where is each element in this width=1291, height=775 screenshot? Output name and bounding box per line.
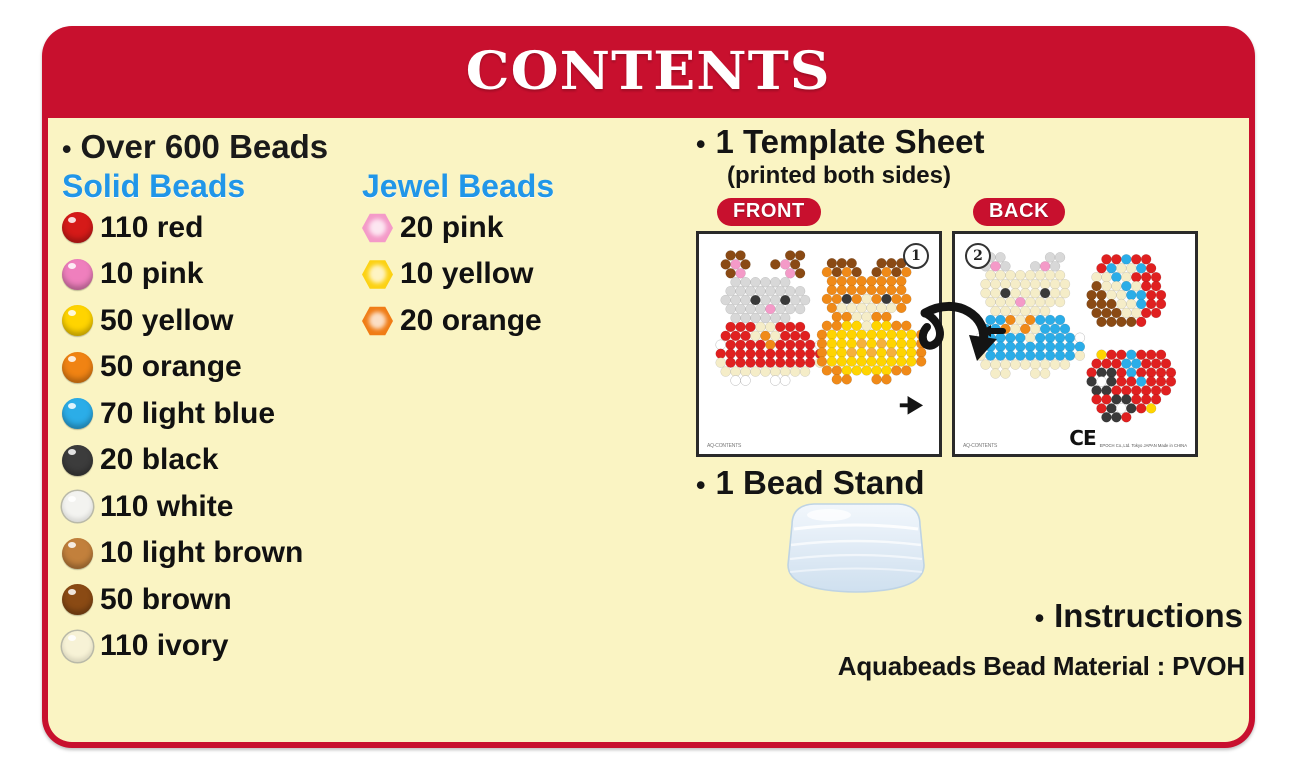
bead-stand-heading: • 1 Bead Stand (696, 465, 1241, 501)
jewel-beads-title: Jewel Beads (362, 168, 662, 205)
bead-count-label: 110 white (100, 484, 233, 531)
template-sheet-label: 1 Template Sheet (715, 124, 984, 160)
solid-bead-icon (62, 491, 93, 522)
list-item: 10 pink (62, 251, 362, 298)
instructions-heading: • Instructions (1035, 597, 1243, 635)
beads-column: • Over 600 Beads Solid Beads 110 red10 p… (62, 128, 682, 670)
solid-beads-title: Solid Beads (62, 168, 362, 205)
solid-beads-column: Solid Beads 110 red10 pink50 yellow50 or… (62, 168, 362, 670)
contents-panel: • Over 600 Beads Solid Beads 110 red10 p… (48, 118, 1249, 742)
back-bead-pattern-icon (955, 234, 1195, 454)
list-item: 10 light brown (62, 530, 362, 577)
sheet-back-fineprint: AQ-CONTENTS (963, 443, 997, 449)
solid-bead-icon (62, 584, 93, 615)
bead-columns: Solid Beads 110 red10 pink50 yellow50 or… (62, 168, 682, 670)
bead-count-label: 20 orange (400, 298, 542, 345)
status-badge-back: BACK (973, 198, 1065, 226)
bead-count-label: 50 orange (100, 344, 242, 391)
bead-count-label: 20 black (100, 437, 218, 484)
list-item: 110 white (62, 484, 362, 531)
list-item: 110 red (62, 205, 362, 252)
sheet-side-badges: FRONT BACK (696, 198, 1241, 226)
bead-count-label: 10 yellow (400, 251, 533, 298)
bead-count-label: 50 yellow (100, 298, 233, 345)
template-column: • 1 Template Sheet (printed both sides) … (696, 124, 1241, 502)
jewel-bead-icon (362, 259, 393, 290)
template-sheet-back: 2 AQ-CONTENTS CE EPOCH Co.,Ltd. Tokyo JA… (952, 231, 1198, 457)
bead-stand-icon (774, 499, 938, 597)
list-item: 50 orange (62, 344, 362, 391)
solid-bead-icon (62, 352, 93, 383)
solid-beads-list: 110 red10 pink50 yellow50 orange70 light… (62, 205, 362, 670)
solid-bead-icon (62, 305, 93, 336)
ce-address-text: EPOCH Co.,Ltd. Tokyo JAPAN Made in CHINA (1100, 443, 1187, 448)
solid-bead-icon (62, 212, 93, 243)
solid-bead-icon (62, 631, 93, 662)
jewel-beads-list: 20 pink10 yellow20 orange (362, 205, 662, 345)
solid-bead-icon (62, 259, 93, 290)
card-header: CONTENTS (42, 26, 1255, 118)
bead-count-label: 110 ivory (100, 623, 228, 670)
jewel-beads-column: Jewel Beads 20 pink10 yellow20 orange (362, 168, 662, 670)
list-item: 50 yellow (62, 298, 362, 345)
front-bead-pattern-icon (699, 234, 939, 454)
list-item: 70 light blue (62, 391, 362, 438)
template-sheet-front: 1 AQ-CONTENTS (696, 231, 942, 457)
bead-stand-section: • 1 Bead Stand (696, 465, 1241, 501)
bead-count-label: 20 pink (400, 205, 503, 252)
ce-mark-group: CE EPOCH Co.,Ltd. Tokyo JAPAN Made in CH… (1069, 428, 1187, 448)
instructions-label: Instructions (1054, 597, 1243, 635)
jewel-bead-icon (362, 212, 393, 243)
over-600-beads-label: Over 600 Beads (80, 128, 328, 166)
list-item: 20 orange (362, 298, 662, 345)
solid-bead-icon (62, 538, 93, 569)
bead-count-label: 10 light brown (100, 530, 303, 577)
bullet-icon: • (696, 472, 705, 499)
over-600-beads-heading: • Over 600 Beads (62, 128, 682, 166)
template-sheet-subtitle: (printed both sides) (727, 162, 1241, 190)
jewel-bead-icon (362, 305, 393, 336)
bead-count-label: 70 light blue (100, 391, 275, 438)
sheet-front-fineprint: AQ-CONTENTS (707, 443, 741, 449)
template-sheet-previews: 1 AQ-CONTENTS 2 AQ-CONTENTS CE EPOCH Co.… (696, 231, 1206, 457)
bead-count-label: 110 red (100, 205, 203, 252)
list-item: 20 pink (362, 205, 662, 252)
template-sheet-heading: • 1 Template Sheet (696, 124, 1241, 160)
bullet-icon: • (62, 136, 71, 163)
bullet-icon: • (696, 131, 705, 158)
solid-bead-icon (62, 445, 93, 476)
bead-count-label: 10 pink (100, 251, 203, 298)
page-title: CONTENTS (466, 46, 831, 98)
status-badge-front: FRONT (717, 198, 821, 226)
bead-stand-label: 1 Bead Stand (715, 465, 924, 501)
contents-card: CONTENTS • Over 600 Beads Solid Beads 11… (42, 26, 1255, 748)
bead-count-label: 50 brown (100, 577, 232, 624)
ce-icon: CE (1069, 428, 1095, 448)
solid-bead-icon (62, 398, 93, 429)
bullet-icon: • (1035, 605, 1044, 632)
material-note: Aquabeads Bead Material : PVOH (838, 651, 1245, 682)
list-item: 110 ivory (62, 623, 362, 670)
list-item: 50 brown (62, 577, 362, 624)
list-item: 10 yellow (362, 251, 662, 298)
list-item: 20 black (62, 437, 362, 484)
